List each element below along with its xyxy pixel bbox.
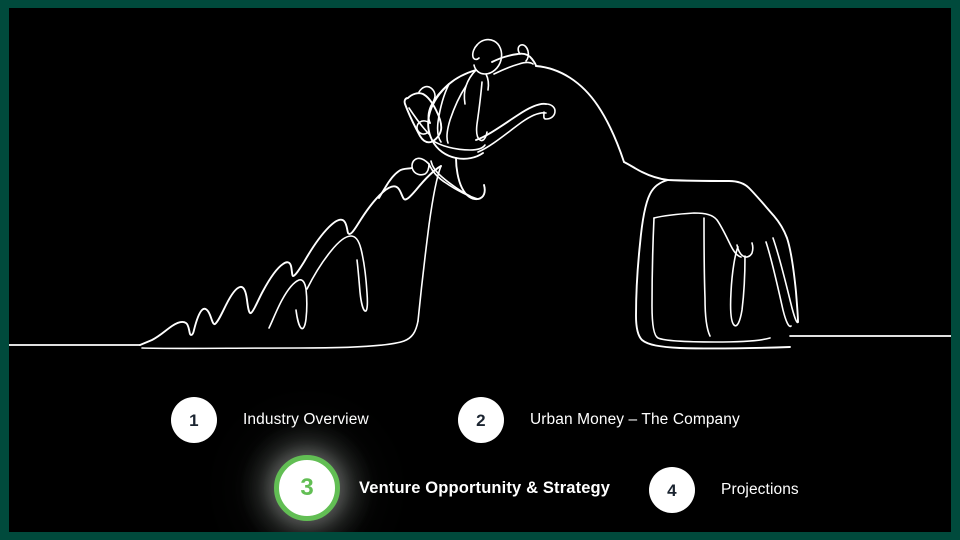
briefcase-handle [419,87,435,100]
figure-jacket-hem [432,140,485,150]
left-cliff-outline [140,166,441,345]
right-cliff-notch [731,247,745,326]
agenda-list: 1 Industry Overview 2 Urban Money – The … [9,373,960,533]
numbered-circle-icon-1[interactable]: 1 [171,397,217,443]
agenda-number-3: 3 [300,476,313,500]
figure-arm-briefcase [429,84,449,123]
right-cliff-edge-line-2 [773,238,798,322]
agenda-item-1[interactable]: 1 Industry Overview [171,397,369,443]
left-cliff-right-face [418,166,441,321]
left-cliff-base-edge [142,321,418,348]
figure-lapel [447,86,466,143]
figure-leg-front [476,104,546,140]
figure-leg-front-inner [478,113,546,152]
right-cliff-ridge-c [704,218,710,336]
arc-trajectory-line [536,66,624,162]
figure-shoe-back [412,158,429,174]
figure-leg-back-inner [431,161,470,196]
agenda-label-4: Projections [721,481,799,499]
numbered-circle-icon-4[interactable]: 4 [649,467,695,513]
figure-arm-raised [492,54,536,66]
left-cliff-ridge-b [307,236,367,311]
figure-leg-back [456,158,485,199]
right-cliff-spike [737,243,753,257]
agenda-item-2[interactable]: 2 Urban Money – The Company [458,397,740,443]
right-cliff-outline [624,162,798,322]
line-to-left-cliff [379,168,412,198]
agenda-item-3-active[interactable]: 3 Venture Opportunity & Strategy [274,455,610,521]
figure-shoe-front [544,104,555,119]
agenda-number-4: 4 [667,482,677,499]
briefcase [405,93,442,142]
figure-face-line [486,74,488,90]
figure-jacket-inner [438,84,449,142]
agenda-item-4[interactable]: 4 Projections [649,467,799,513]
figure-collar [464,70,476,104]
figure-hand-briefcase [417,121,430,134]
agenda-label-1: Industry Overview [243,411,369,429]
right-cliff-ridge-b [652,218,770,342]
figure-hair [473,45,479,59]
presentation-slide: 1 Industry Overview 2 Urban Money – The … [0,0,960,540]
agenda-label-2: Urban Money – The Company [530,411,740,429]
briefcase-seam [409,108,429,134]
left-cliff-ridge-a [269,280,307,329]
numbered-circle-icon-2[interactable]: 2 [458,397,504,443]
figure-jacket [428,70,483,159]
figure-head [474,40,502,74]
agenda-label-3: Venture Opportunity & Strategy [359,479,610,498]
figure-arm-raised-inner [494,63,533,75]
right-cliff-edge-line [766,242,791,326]
agenda-number-1: 1 [189,412,199,429]
right-cliff-left-face [636,180,790,348]
numbered-circle-active-icon-3[interactable]: 3 [274,455,340,521]
right-cliff-ridge-a [654,213,741,257]
figure-tie [477,82,487,141]
agenda-number-2: 2 [476,412,486,429]
figure-hand-raised [518,45,528,61]
figure-leg-back-shin [429,164,478,199]
